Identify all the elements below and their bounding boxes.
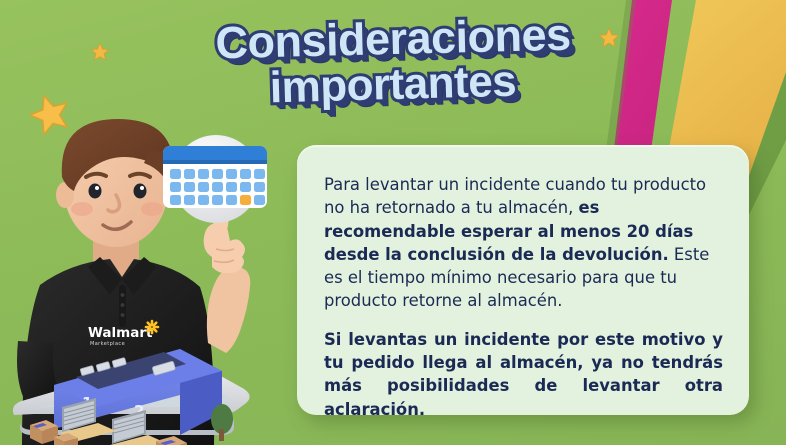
calendar-icon <box>155 122 273 237</box>
svg-text:Walmart: Walmart <box>88 325 153 341</box>
slide-root: Consideraciones importantes <box>0 0 786 445</box>
slide-title: Consideraciones importantes <box>0 16 786 107</box>
calendar-highlighted-day <box>240 195 251 205</box>
content-card: Para levantar un incidente cuando tu pro… <box>297 145 749 415</box>
svg-text:Marketplace: Marketplace <box>90 341 125 347</box>
para1-part1: Para levantar un incidente cuando tu pro… <box>324 175 706 217</box>
card-paragraph-2: Si levantas un incidente por este motivo… <box>324 328 723 421</box>
card-paragraph-1: Para levantar un incidente cuando tu pro… <box>324 173 723 313</box>
